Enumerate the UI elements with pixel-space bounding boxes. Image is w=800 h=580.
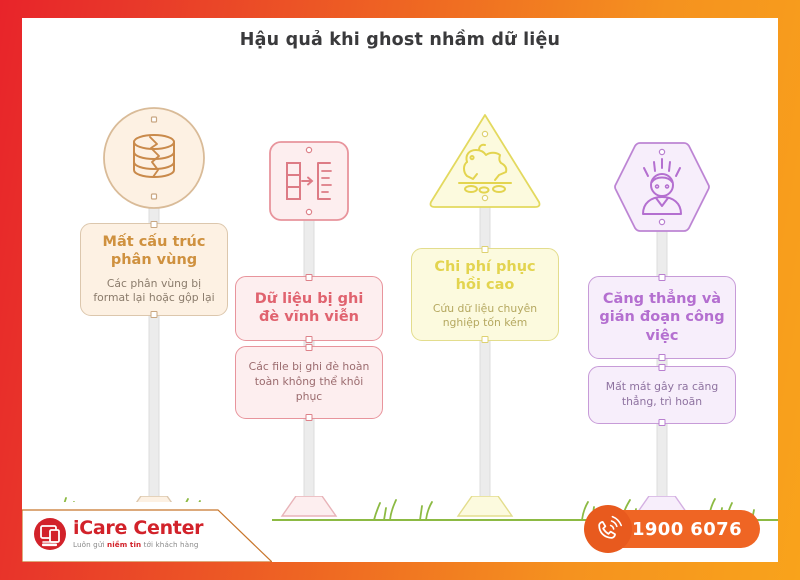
panel-bolt-bottom xyxy=(482,336,489,343)
tagline-strong: niềm tin xyxy=(107,540,141,549)
phone-badge[interactable]: 1900 6076 xyxy=(588,510,760,548)
column-stress-disruption: Căng thẳng và gián đoạn công việc Mất má… xyxy=(562,18,762,562)
panel-title-text: Dữ liệu bị ghi đè vĩnh viễn xyxy=(246,286,372,331)
sign-head-square xyxy=(268,140,350,222)
panel-title: Chi phí phục hồi cao xyxy=(422,258,548,295)
sign-head-circle xyxy=(102,106,206,210)
panel-body: Mất mát gây ra căng thẳng, trì hoãn xyxy=(588,366,736,424)
brand-text: iCare Center Luôn gửi niềm tin tới khách… xyxy=(73,519,203,548)
sign-head-hexagon xyxy=(612,140,712,234)
monitor-icon xyxy=(34,518,66,550)
column-data-overwritten: Dữ liệu bị ghi đè vĩnh viễn Các file bị … xyxy=(209,18,409,562)
panel-title: Dữ liệu bị ghi đè vĩnh viễn xyxy=(235,276,383,341)
panel-title-body: Mất cấu trúc phân vùng Các phân vùng bị … xyxy=(80,223,228,316)
sign-base xyxy=(456,496,514,518)
panel-title-body: Chi phí phục hồi cao Cứu dữ liệu chuyên … xyxy=(411,248,559,341)
column-recovery-cost: Chi phí phục hồi cao Cứu dữ liệu chuyên … xyxy=(385,18,585,562)
poster-frame: Hậu quả khi ghost nhầm dữ liệu xyxy=(0,0,800,580)
brand-logo[interactable]: iCare Center Luôn gửi niềm tin tới khách… xyxy=(34,518,203,550)
poster-canvas: Hậu quả khi ghost nhầm dữ liệu xyxy=(22,18,778,562)
panel-bolt-bottom xyxy=(151,311,158,318)
sign-base xyxy=(280,496,338,518)
panel-bolt-top xyxy=(306,344,313,351)
phone-ring-icon xyxy=(584,505,632,553)
panel-bolt-top xyxy=(659,274,666,281)
panel-body-text: Mất mát gây ra căng thẳng, trì hoãn xyxy=(599,376,725,414)
panel-body-text: Các file bị ghi đè hoàn toàn không thể k… xyxy=(246,356,372,409)
panel-bolt-bottom xyxy=(306,336,313,343)
panel-bolt-bottom xyxy=(306,414,313,421)
panel-bolt-top xyxy=(151,221,158,228)
panel-title-text: Căng thẳng và gián đoạn công việc xyxy=(599,286,725,349)
panel-bolt-top xyxy=(659,364,666,371)
panel-title: Căng thẳng và gián đoạn công việc xyxy=(588,276,736,359)
panel-bolt-bottom xyxy=(659,354,666,361)
panel-bolt-bottom xyxy=(659,419,666,426)
brand-tagline: Luôn gửi niềm tin tới khách hàng xyxy=(73,541,203,548)
tagline-post: tới khách hàng xyxy=(141,540,198,549)
sign-head-triangle xyxy=(427,110,543,210)
panel-bolt-top xyxy=(306,274,313,281)
panel-body: Cứu dữ liệu chuyên nghiệp tốn kém xyxy=(422,302,548,332)
panel-body: Các phân vùng bị format lại hoặc gộp lại xyxy=(91,277,217,307)
panel-title: Mất cấu trúc phân vùng xyxy=(91,233,217,270)
sign-post xyxy=(149,168,160,513)
panel-body: Các file bị ghi đè hoàn toàn không thể k… xyxy=(235,346,383,419)
tagline-pre: Luôn gửi xyxy=(73,540,107,549)
panel-bolt-top xyxy=(482,246,489,253)
phone-number: 1900 6076 xyxy=(632,519,742,540)
brand-name: iCare Center xyxy=(73,519,203,538)
